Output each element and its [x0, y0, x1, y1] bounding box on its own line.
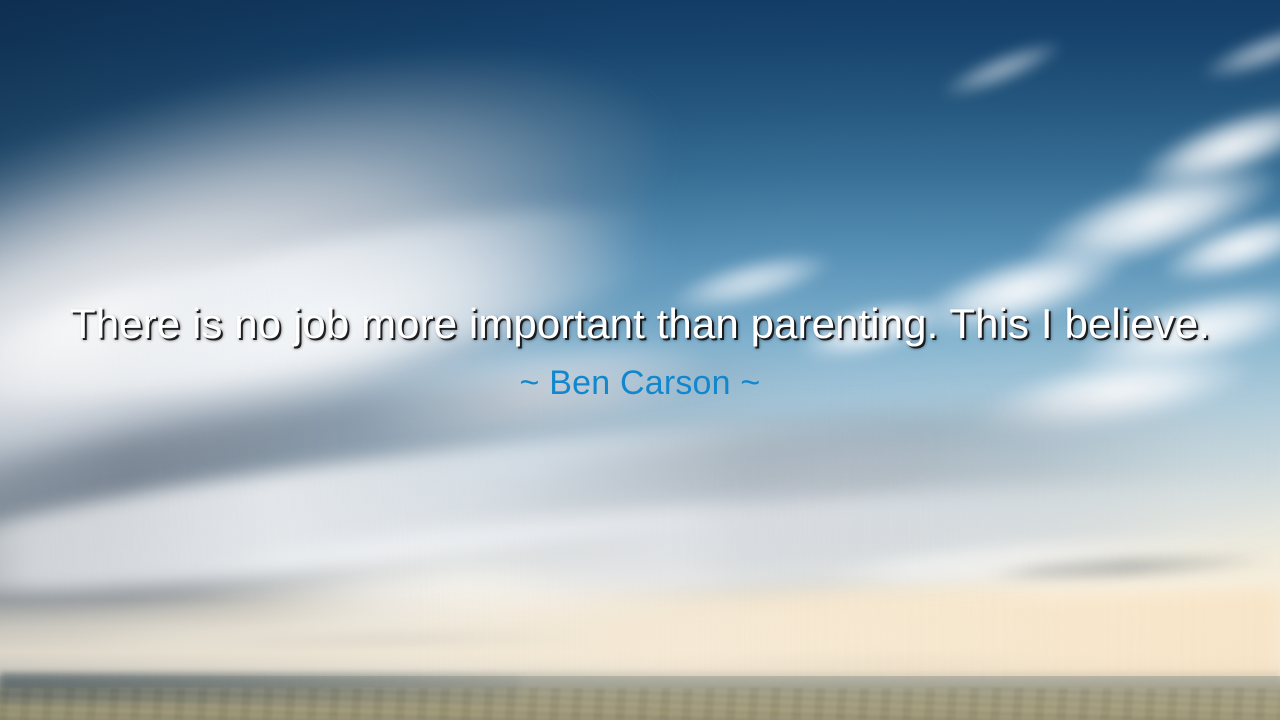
quote-card: There is no job more important than pare… [0, 0, 1280, 720]
quote-block: There is no job more important than pare… [0, 300, 1280, 402]
quote-text: There is no job more important than pare… [0, 300, 1280, 347]
quote-attribution: ~ Ben Carson ~ [0, 365, 1280, 402]
